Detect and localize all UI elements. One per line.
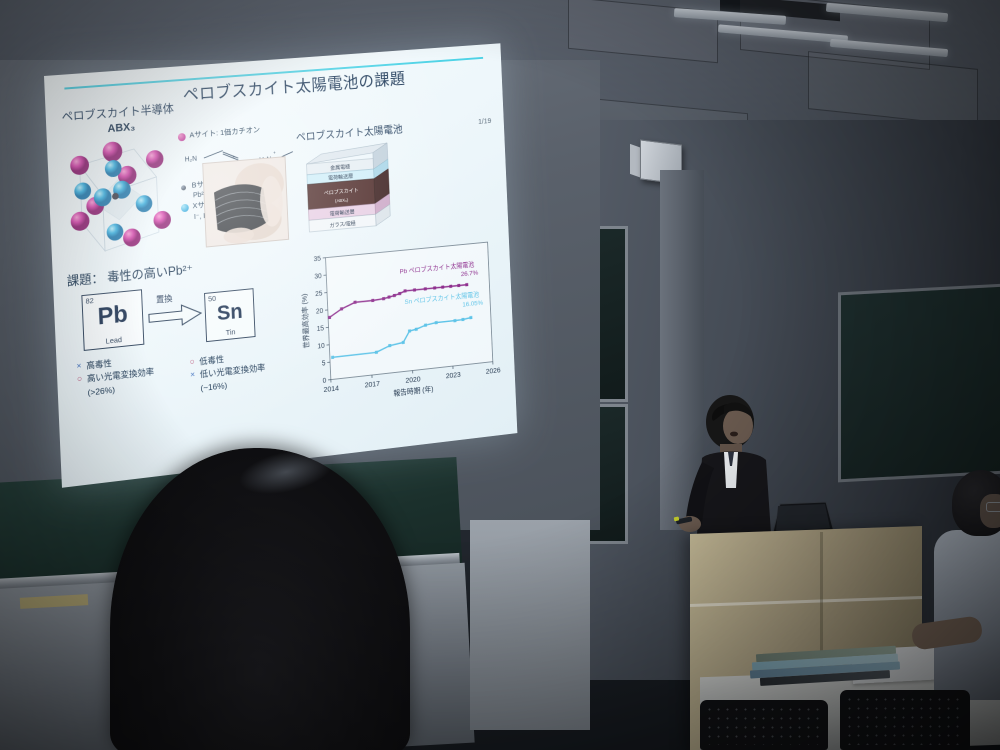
bullets-lead: × 高毒性 ○ 高い光電変換効率 (>26%): [76, 350, 187, 401]
svg-text:H₂N: H₂N: [185, 156, 198, 164]
bullet-text: 高毒性: [86, 358, 112, 371]
bullet-text: (~16%): [200, 380, 227, 393]
svg-text:2017: 2017: [365, 379, 381, 389]
svg-text:20: 20: [316, 308, 324, 316]
cyan-sphere-icon: [181, 204, 189, 213]
svg-text:2020: 2020: [405, 374, 420, 384]
chart-svg: 0510152025303520142017202020232026報告時期 (…: [293, 232, 503, 418]
perovskite-crystal-diagram: [57, 128, 182, 267]
svg-text:2014: 2014: [323, 384, 339, 394]
svg-text:2023: 2023: [446, 370, 461, 380]
bullet-text: 低毒性: [199, 354, 224, 367]
person-torso: [934, 530, 1000, 700]
bullet-spacer: [191, 383, 201, 384]
atomic-number: 82: [85, 296, 94, 306]
presentation-slide: ペロブスカイト太陽電池の課題 1/19 ペロブスカイト半導体 ペロブスカイト太陽…: [44, 43, 517, 487]
bullets-tin: ○ 低毒性 × 低い光電変換効率 (~16%): [190, 346, 298, 397]
chair: [840, 690, 970, 750]
element-box-lead: 82 Pb Lead: [81, 289, 144, 351]
seated-person: [930, 470, 1000, 700]
cross-icon: ×: [76, 361, 86, 371]
svg-text:30: 30: [314, 273, 322, 281]
door-frame: [470, 520, 590, 730]
svg-text:世界最高効率 (%): 世界最高効率 (%): [300, 293, 311, 349]
lecture-room-scene: ペロブスカイト太陽電池の課題 1/19 ペロブスカイト半導体 ペロブスカイト太陽…: [0, 0, 1000, 750]
circle-icon: ○: [77, 374, 87, 384]
svg-text:35: 35: [314, 256, 322, 264]
slide-number: 1/19: [478, 116, 491, 126]
element-symbol: Pb: [83, 301, 143, 331]
cross-icon: ×: [190, 370, 200, 380]
substitution-arrow-icon: [147, 301, 204, 330]
svg-text:+: +: [273, 150, 276, 156]
glasses-icon: [986, 502, 1000, 512]
flexible-solar-cell-photo: [202, 156, 289, 247]
bullet-spacer: [77, 387, 87, 388]
atomic-number: 50: [208, 294, 216, 304]
magenta-sphere-icon: [178, 133, 186, 141]
efficiency-chart: 0510152025303520142017202020232026報告時期 (…: [293, 232, 503, 418]
svg-text:2026: 2026: [486, 366, 501, 376]
svg-text:5: 5: [322, 360, 326, 367]
device-stack-diagram: 金属電極 電荷輸送層 ペロブスカイト (ABX₃) 電荷輸送層 ガラス/電極: [295, 140, 397, 247]
svg-text:15: 15: [317, 325, 325, 333]
chair: [700, 700, 828, 750]
section-heading-left: ペロブスカイト半導体: [61, 100, 174, 124]
chair-mesh: [705, 705, 823, 745]
element-box-tin: 50 Sn Tin: [204, 288, 256, 342]
chair-mesh: [845, 695, 965, 745]
element-name: Lead: [84, 333, 143, 348]
projection-screen: ペロブスカイト太陽電池の課題 1/19 ペロブスカイト半導体 ペロブスカイト太陽…: [44, 43, 517, 487]
element-symbol: Sn: [205, 300, 253, 325]
svg-text:10: 10: [317, 343, 325, 351]
circle-icon: ○: [190, 357, 200, 367]
svg-text:25: 25: [315, 291, 323, 299]
ceiling-panel: [808, 51, 978, 127]
blackboard-right: [838, 284, 1000, 483]
bullet-text: (>26%): [87, 384, 115, 397]
element-name: Tin: [207, 325, 255, 339]
svg-text:報告時期 (年): 報告時期 (年): [393, 385, 433, 398]
